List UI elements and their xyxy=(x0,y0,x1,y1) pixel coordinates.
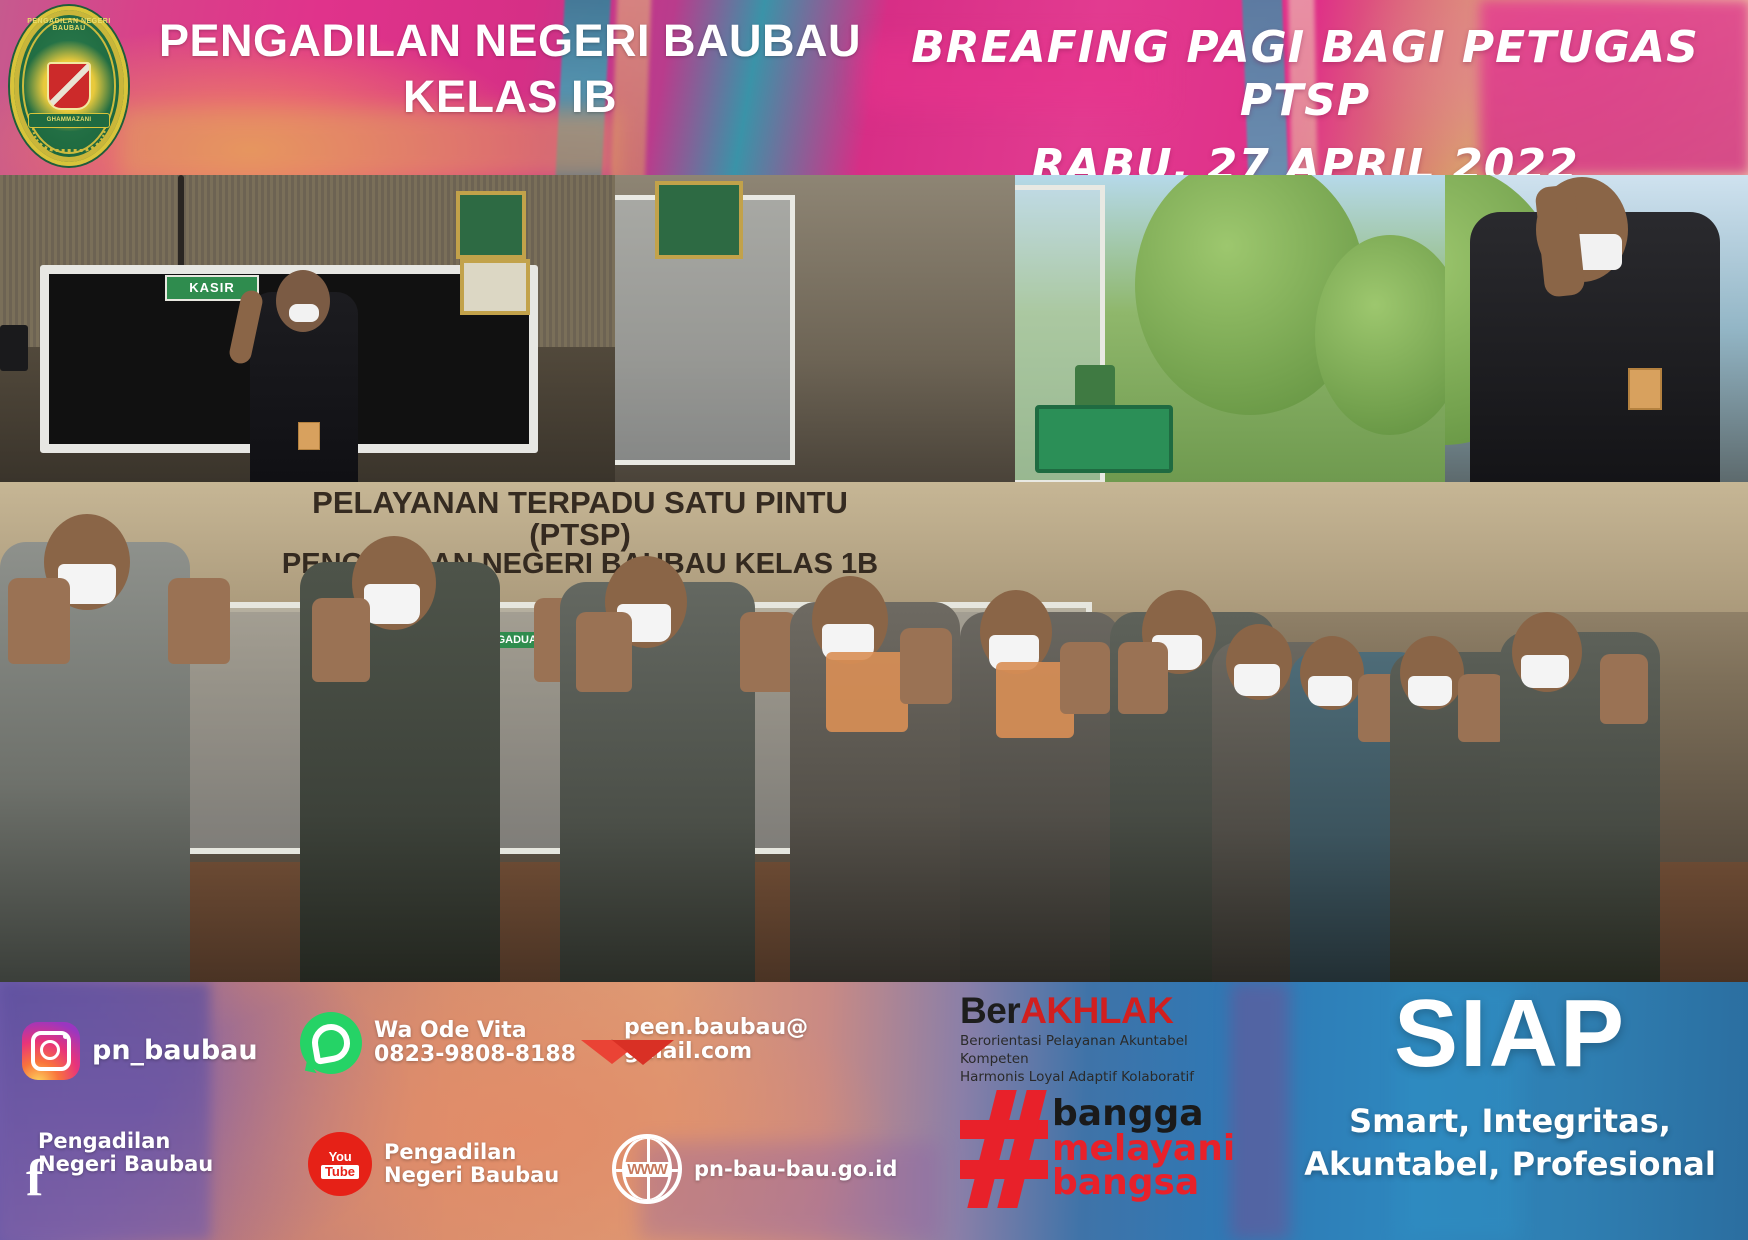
contact-website[interactable]: WWW pn-bau-bau.go.id xyxy=(612,1134,897,1204)
photo-pane-window: SATPAM xyxy=(1015,175,1445,482)
id-badge xyxy=(1628,368,1662,410)
email-line1: peen.baubau@ xyxy=(624,1015,808,1040)
raised-hand xyxy=(576,612,632,692)
face-mask xyxy=(1308,676,1352,706)
youtube-text: Pengadilan Negeri Baubau xyxy=(384,1141,559,1186)
raised-hand xyxy=(900,628,952,704)
berakhlak-subtitle: Berorientasi Pelayanan Akuntabel Kompete… xyxy=(960,1033,1230,1086)
face-mask xyxy=(364,584,420,624)
seal-shape: PENGADILAN NEGERI BAUBAU GHAMMAZANI xyxy=(10,6,128,166)
contact-whatsapp[interactable]: Wa Ode Vita 0823-9808-8188 xyxy=(300,1012,576,1074)
raised-hand xyxy=(1118,642,1168,714)
hashtag-icon xyxy=(960,1090,1048,1208)
facebook-line2: Negeri Baubau xyxy=(38,1152,213,1176)
contact-instagram[interactable]: pn_baubau xyxy=(22,1022,258,1080)
court-name-line2: KELAS IB xyxy=(130,72,890,122)
court-seal-logo: PENGADILAN NEGERI BAUBAU GHAMMAZANI xyxy=(10,6,128,166)
photo-pane-center xyxy=(615,175,1015,482)
raised-hand xyxy=(312,598,370,682)
access-scanner xyxy=(0,325,28,371)
event-title: BREAFING PAGI BAGI PETUGAS PTSP xyxy=(890,22,1720,128)
berakhlak-sub-line2: Harmonis Loyal Adaptif Kolaboratif xyxy=(960,1069,1230,1087)
photo-pane-right xyxy=(1445,175,1748,482)
siap-line2: Akuntabel, Profesional xyxy=(1290,1143,1730,1186)
ptsp-banner: PELAYANAN TERPADU SATU PINTU (PTSP) PENG… xyxy=(260,487,900,563)
berakhlak-title: BerAKHLAK xyxy=(960,992,1230,1029)
whatsapp-icon[interactable] xyxy=(300,1012,362,1074)
youtube-icon-line1: You xyxy=(329,1150,352,1163)
header-title-left: PENGADILAN NEGERI BAUBAU KELAS IB xyxy=(130,16,890,123)
hanging-cable xyxy=(178,175,184,271)
berakhlak-sub-line1: Berorientasi Pelayanan Akuntabel Kompete… xyxy=(960,1033,1230,1069)
berakhlak-logo: BerAKHLAK Berorientasi Pelayanan Akuntab… xyxy=(960,992,1230,1086)
siap-line1: Smart, Integritas, xyxy=(1290,1100,1730,1143)
berakhlak-title-akhlak: AKHLAK xyxy=(1020,990,1173,1031)
scarf xyxy=(826,652,908,732)
photo-strip-top: KASIR SATPAM xyxy=(0,175,1748,482)
photo-pane-kasir: KASIR xyxy=(0,175,615,482)
raised-hand xyxy=(740,612,796,692)
instagram-handle: pn_baubau xyxy=(92,1036,258,1065)
face-mask xyxy=(1408,676,1452,706)
youtube-icon-line2: Tube xyxy=(321,1165,359,1179)
id-badge xyxy=(298,422,320,450)
youtube-line1: Pengadilan xyxy=(384,1140,516,1164)
siap-title: SIAP xyxy=(1290,986,1730,1082)
poster-footer: pn_baubau Wa Ode Vita 0823-9808-8188 pee… xyxy=(0,982,1748,1240)
bangga-word2: melayani xyxy=(1052,1132,1235,1167)
bangga-word3: bangsa xyxy=(1052,1166,1235,1201)
event-date: RABU, 27 APRIL 2022 xyxy=(890,140,1720,175)
youtube-line2: Negeri Baubau xyxy=(384,1163,559,1187)
wall-frame xyxy=(460,259,530,315)
poster-header: PENGADILAN NEGERI BAUBAU GHAMMAZANI PENG… xyxy=(0,0,1748,175)
whatsapp-name: Wa Ode Vita xyxy=(374,1018,527,1043)
seal-shield-icon xyxy=(47,62,91,110)
bangga-word1: bangga xyxy=(1052,1097,1235,1132)
wall-frame xyxy=(655,181,743,259)
whatsapp-number: 0823-9808-8188 xyxy=(374,1042,576,1067)
court-name-line1: PENGADILAN NEGERI BAUBAU xyxy=(130,16,890,66)
kiosk-screen xyxy=(1035,405,1173,473)
seal-ring-text: PENGADILAN NEGERI BAUBAU xyxy=(14,18,124,32)
website-url: pn-bau-bau.go.id xyxy=(694,1158,897,1181)
raised-hand xyxy=(8,578,70,664)
poster-root: PENGADILAN NEGERI BAUBAU GHAMMAZANI PENG… xyxy=(0,0,1748,1240)
facebook-line1: Pengadilan xyxy=(38,1129,170,1153)
raised-hand xyxy=(1600,654,1648,724)
instagram-icon[interactable] xyxy=(22,1022,80,1080)
ptsp-banner-line1: PELAYANAN TERPADU SATU PINTU (PTSP) xyxy=(260,487,900,550)
bangga-melayani-bangsa-logo: bangga melayani bangsa xyxy=(960,1090,1260,1208)
bangga-words: bangga melayani bangsa xyxy=(1052,1097,1235,1201)
face-mask xyxy=(289,304,319,322)
website-icon[interactable]: WWW xyxy=(612,1134,682,1204)
photo-strip-bottom: PELAYANAN TERPADU SATU PINTU (PTSP) PENG… xyxy=(0,482,1748,982)
staff-head xyxy=(276,270,330,332)
header-title-right: BREAFING PAGI BAGI PETUGAS PTSP RABU, 27… xyxy=(890,22,1720,175)
berakhlak-title-ber: Ber xyxy=(960,990,1020,1031)
face-mask xyxy=(1521,655,1569,688)
raised-hand xyxy=(1060,642,1110,714)
raised-hand xyxy=(1458,674,1504,742)
contacts-block: pn_baubau Wa Ode Vita 0823-9808-8188 pee… xyxy=(0,982,960,1240)
siap-block: SIAP Smart, Integritas, Akuntabel, Profe… xyxy=(1290,986,1730,1186)
contact-email[interactable]: peen.baubau@ gmail.com xyxy=(612,1016,808,1064)
seal-ribbon-text: GHAMMAZANI xyxy=(28,113,110,128)
seal-wreath-icon xyxy=(32,127,106,152)
wall-frame xyxy=(456,191,526,259)
youtube-icon[interactable]: You Tube xyxy=(308,1132,372,1196)
contact-facebook[interactable]: Pengadilan Negeri Baubau xyxy=(26,1130,213,1175)
face-mask xyxy=(1234,664,1280,696)
facebook-text: Pengadilan Negeri Baubau xyxy=(38,1130,213,1175)
whatsapp-text: Wa Ode Vita 0823-9808-8188 xyxy=(374,1019,576,1067)
website-icon-text: WWW xyxy=(624,1162,669,1177)
raised-hand xyxy=(168,578,230,664)
contact-youtube[interactable]: You Tube Pengadilan Negeri Baubau xyxy=(308,1132,559,1196)
